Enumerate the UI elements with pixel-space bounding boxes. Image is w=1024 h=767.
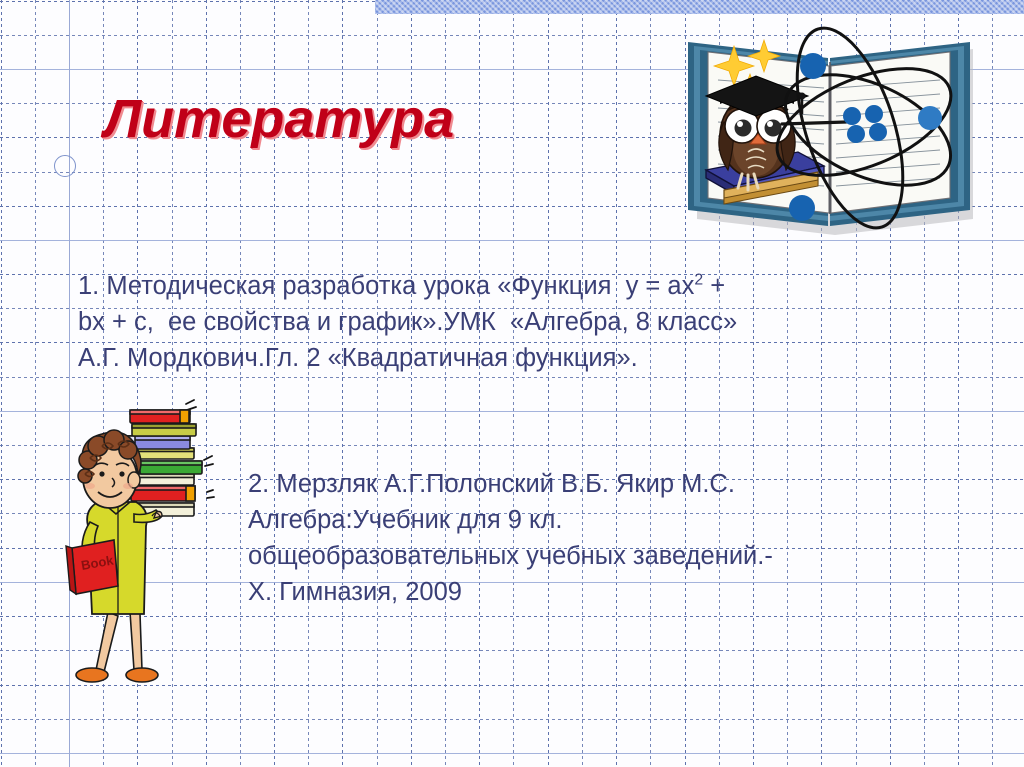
- grid-line-horizontal: [0, 377, 1024, 378]
- exponent-two: 2: [694, 272, 703, 289]
- grid-line-horizontal: [0, 753, 1024, 754]
- reference-2-line-1: 2. Мерзляк А.Г.Полонский В.Б. Якир М.С.: [248, 470, 735, 498]
- electron-dot: [918, 106, 942, 130]
- reference-1-line-1: 1. Методическая разработка урока «Функци…: [78, 272, 694, 300]
- grid-circle-decoration: [54, 155, 76, 177]
- page-title: Литература: [104, 88, 454, 150]
- reference-2-line-2: Алгебра:Учебник для 9 кл.: [248, 506, 562, 534]
- grid-line-vertical: [1, 0, 2, 767]
- reference-1-line-1-tail: +: [703, 272, 725, 300]
- grid-line-vertical: [616, 0, 617, 767]
- owl-graduate-on-open-book-illustration: [678, 18, 988, 243]
- grid-line-vertical: [548, 0, 549, 767]
- top-accent-bar: [375, 0, 1024, 14]
- grid-line-horizontal: [0, 719, 1024, 720]
- boy-balancing-books-illustration: Book: [52, 398, 234, 690]
- reference-1-line-2: bx + c, ее свойства и график».УМК «Алгеб…: [78, 308, 737, 336]
- electron-dot: [789, 195, 815, 221]
- grid-line-vertical: [650, 0, 651, 767]
- grid-line-vertical: [992, 0, 993, 767]
- reference-2-line-4: Х. Гимназия, 2009: [248, 578, 462, 606]
- reference-2-line-3: общеобразовательных учебных заведений.-: [248, 542, 773, 570]
- reference-item-2: 2. Мерзляк А.Г.Полонский В.Б. Якир М.С.А…: [248, 466, 968, 610]
- grid-line-vertical: [582, 0, 583, 767]
- reference-item-1: 1. Методическая разработка урока «Функци…: [78, 268, 978, 376]
- grid-line-vertical: [35, 0, 36, 767]
- reference-1-line-3: А.Г. Мордкович.Гл. 2 «Квадратичная функц…: [78, 344, 638, 372]
- slide-canvas: Литература 1. Методическая разработка ур…: [0, 0, 1024, 767]
- electron-dot: [800, 53, 826, 79]
- grid-line-vertical: [513, 0, 514, 767]
- grid-line-vertical: [479, 0, 480, 767]
